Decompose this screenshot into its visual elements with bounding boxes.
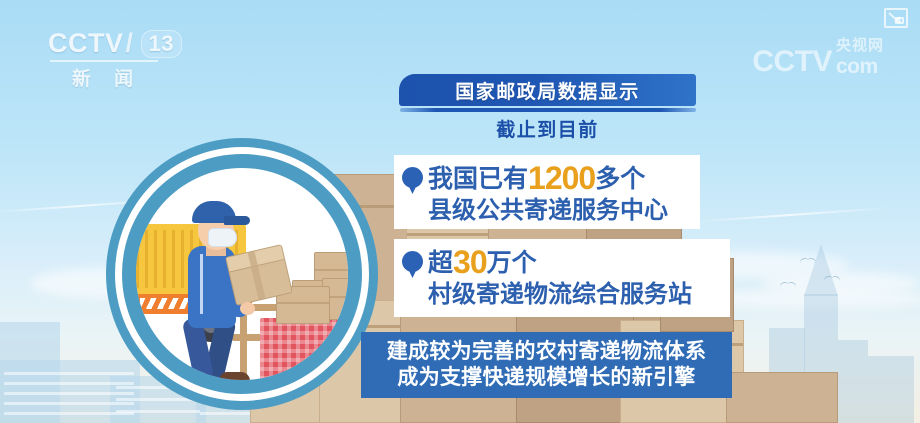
stat-panel-1: 我国已有1200多个 县级公共寄递服务中心 (394, 155, 700, 229)
courier-shoe-back (220, 372, 250, 380)
cardboard-box (726, 372, 838, 423)
picture-in-picture-icon[interactable] (884, 8, 908, 28)
watermark-cctv-text: CCTV (752, 45, 832, 79)
stat-2-number: 30 (453, 244, 487, 280)
stat-2-lines: 超30万个 村级寄递物流综合服务站 (428, 246, 692, 308)
skyline-tower (838, 340, 868, 423)
cloud-decoration (700, 290, 920, 308)
cctv-com-watermark: CCTV 央视网 com (752, 34, 884, 79)
skyline-spire (804, 244, 838, 296)
banner-underline (400, 108, 696, 112)
skyline-tower (804, 294, 838, 423)
cctv-wordmark: CCTV (48, 28, 124, 59)
watermark-right-group: 央视网 com (836, 34, 884, 79)
stat-1-number: 1200 (528, 160, 595, 196)
stat-1-line2: 县级公共寄递服务中心 (428, 198, 668, 224)
courier-illustration-circle (106, 138, 378, 410)
city-window (116, 410, 200, 413)
stat-1-suffix: 多个 (595, 165, 645, 193)
pip-inner-box (895, 17, 904, 24)
stat-1-line1: 我国已有1200多个 (428, 162, 668, 196)
city-block (0, 322, 60, 423)
bird-decoration (824, 276, 840, 283)
watermark-chinese-text: 央视网 (836, 34, 884, 55)
stat-2-line1: 超30万个 (428, 246, 692, 280)
stat-2-line2: 村级寄递物流综合服务站 (428, 282, 692, 308)
watermark-com-text: com (836, 55, 878, 79)
channel-name-text: 新 闻 (48, 64, 166, 91)
stat-panel-2: 超30万个 村级寄递物流综合服务站 (394, 239, 730, 317)
courier-shoe-front (171, 372, 202, 380)
map-pin-icon (402, 167, 423, 195)
bird-decoration (800, 258, 816, 265)
stat-2-suffix: 万个 (487, 249, 537, 277)
skyline-tower (769, 328, 805, 423)
callout-line-1: 建成较为完善的农村寄递物流体系 (387, 339, 707, 365)
skyline-tower (868, 356, 914, 423)
banner-title-text: 国家邮政局数据显示 (455, 77, 640, 104)
sky-streak-decoration (690, 207, 890, 223)
channel-number: 13 (141, 30, 182, 58)
title-banner: 国家邮政局数据显示 (399, 74, 696, 106)
bird-decoration (780, 282, 796, 289)
circle-illustration-face (136, 168, 348, 380)
bottom-callout-box: 建成较为完善的农村寄递物流体系 成为支撑快递规模增长的新引擎 (361, 332, 732, 398)
stat-2-prefix: 超 (428, 249, 453, 277)
stat-1-prefix: 我国已有 (428, 165, 528, 193)
subtitle-text: 截止到目前 (399, 115, 696, 142)
cctv13-logo-row: CCTV / 13 (48, 28, 200, 59)
courier-cap-brim (224, 216, 250, 225)
logo-rule (50, 60, 158, 62)
courier-hand (240, 302, 255, 315)
map-pin-icon (402, 251, 423, 279)
logo-slash-icon: / (126, 28, 134, 59)
city-window (200, 412, 276, 415)
cctv13-channel-logo: CCTV / 13 新 闻 (48, 28, 200, 90)
delivery-scene (136, 168, 348, 380)
infographic-stage: 国家邮政局数据显示 截止到目前 我国已有1200多个 县级公共寄递服务中心 超3… (0, 0, 920, 423)
stat-1-lines: 我国已有1200多个 县级公共寄递服务中心 (428, 162, 668, 224)
callout-line-2: 成为支撑快递规模增长的新引擎 (397, 365, 695, 391)
cloud-decoration (760, 272, 920, 294)
red-checkered-tablecloth (260, 318, 348, 380)
city-window (4, 412, 134, 415)
face-mask-icon (208, 228, 237, 247)
